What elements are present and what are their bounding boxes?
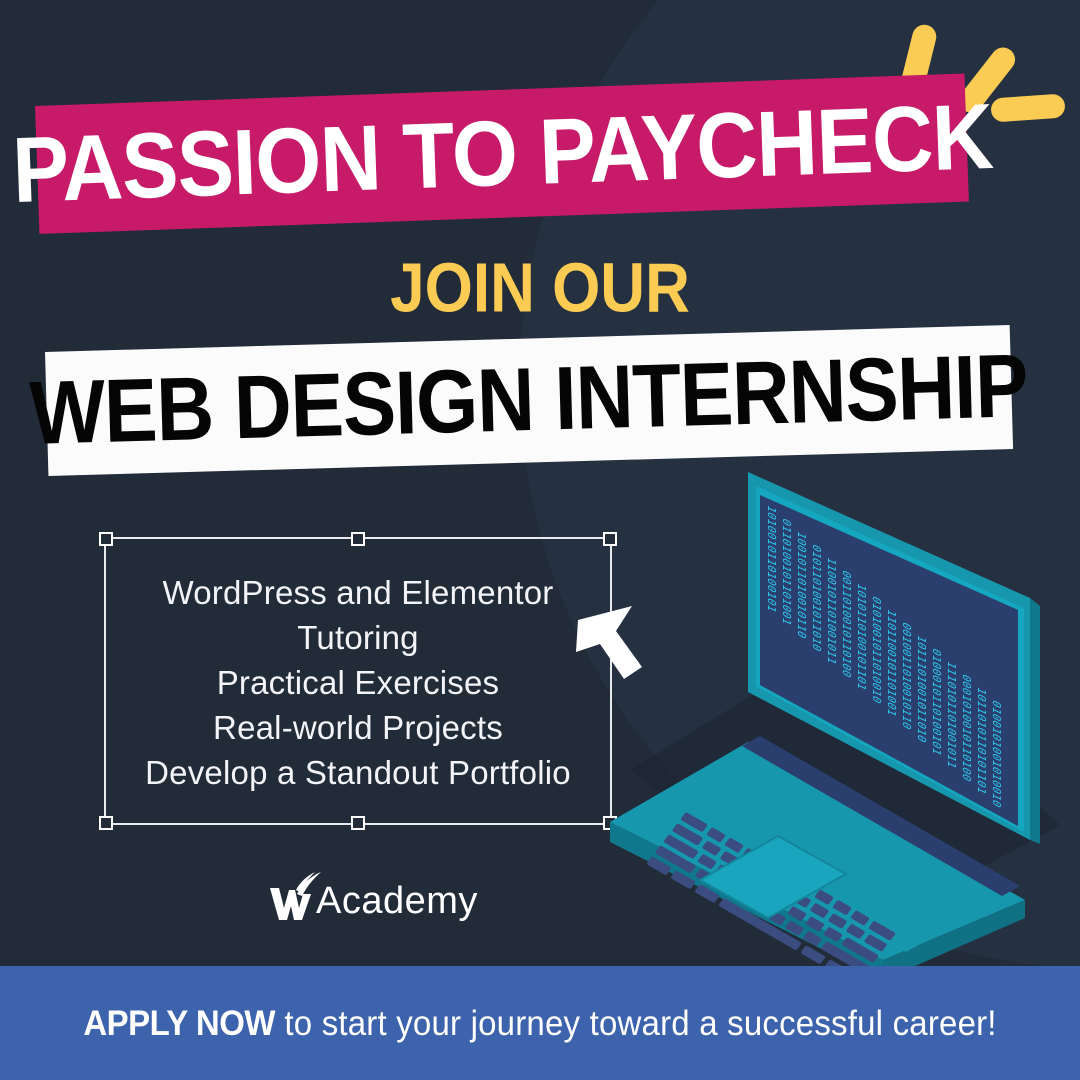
svg-text:0101101001011010: 0101101001011010: [810, 542, 823, 654]
resize-handle-bottom-left[interactable]: [99, 816, 113, 830]
svg-text:1100101101001011: 1100101101001011: [825, 555, 838, 667]
svg-text:0010011010010110: 0010011010010110: [900, 620, 913, 732]
svg-text:0100101001010010: 0100101001010010: [990, 698, 1003, 810]
resize-handle-top-left[interactable]: [99, 532, 113, 546]
laptop-illustration: 1010010110100101 0110100101101001 100101…: [600, 440, 1070, 970]
list-item: WordPress and Elementor: [104, 570, 612, 615]
poster-canvas: PASSION TO PAYCHECK JOIN OUR WEB DESIGN …: [0, 0, 1080, 1080]
svg-text:1001011010010110: 1001011010010110: [795, 529, 808, 641]
list-item: Practical Exercises: [104, 660, 612, 705]
svg-text:0100010110100101: 0100010110100101: [930, 646, 943, 758]
svg-text:1010010110100101: 1010010110100101: [765, 503, 778, 615]
cta-rest-text: to start your journey toward a successfu…: [275, 1002, 997, 1042]
list-item: Develop a Standout Portfolio: [104, 750, 612, 795]
yellow-dash-icon: [990, 93, 1065, 122]
svg-text:1011101001011010: 1011101001011010: [915, 633, 928, 745]
svg-text:0101001011010010: 0101001011010010: [870, 594, 883, 706]
kicker-text: PASSION TO PAYCHECK: [10, 90, 993, 217]
cta-text: APPLY NOW to start your journey toward a…: [83, 1002, 996, 1043]
feature-list: WordPress and Elementor Tutoring Practic…: [104, 570, 612, 795]
brand-logo: Academy: [266, 866, 478, 924]
resize-handle-bottom-center[interactable]: [351, 816, 365, 830]
kicker-banner: PASSION TO PAYCHECK: [35, 74, 969, 234]
logo-text: Academy: [316, 882, 478, 924]
svg-text:0110100101101001: 0110100101101001: [780, 516, 793, 628]
svg-text:1011010110101101: 1011010110101101: [975, 685, 988, 797]
cta-banner[interactable]: APPLY NOW to start your journey toward a…: [0, 966, 1080, 1080]
svg-text:0001010010110100: 0001010010110100: [960, 672, 973, 784]
svg-text:1110101101001011: 1110101101001011: [945, 659, 958, 771]
subhead-text: JOIN OUR: [0, 254, 1080, 323]
screen-shell-edge: [1030, 598, 1040, 844]
svg-text:1101100101101001: 1101100101101001: [885, 607, 898, 719]
list-item: Tutoring: [104, 615, 612, 660]
resize-handle-top-center[interactable]: [351, 532, 365, 546]
list-item: Real-world Projects: [104, 705, 612, 750]
svg-text:0011010010110100: 0011010010110100: [840, 568, 853, 680]
mouse-cursor-arrow-icon: [570, 600, 660, 695]
cta-strong-text: APPLY NOW: [83, 1002, 275, 1042]
w-wing-icon: [266, 868, 322, 924]
svg-text:1010110100101101: 1010110100101101: [855, 581, 868, 693]
